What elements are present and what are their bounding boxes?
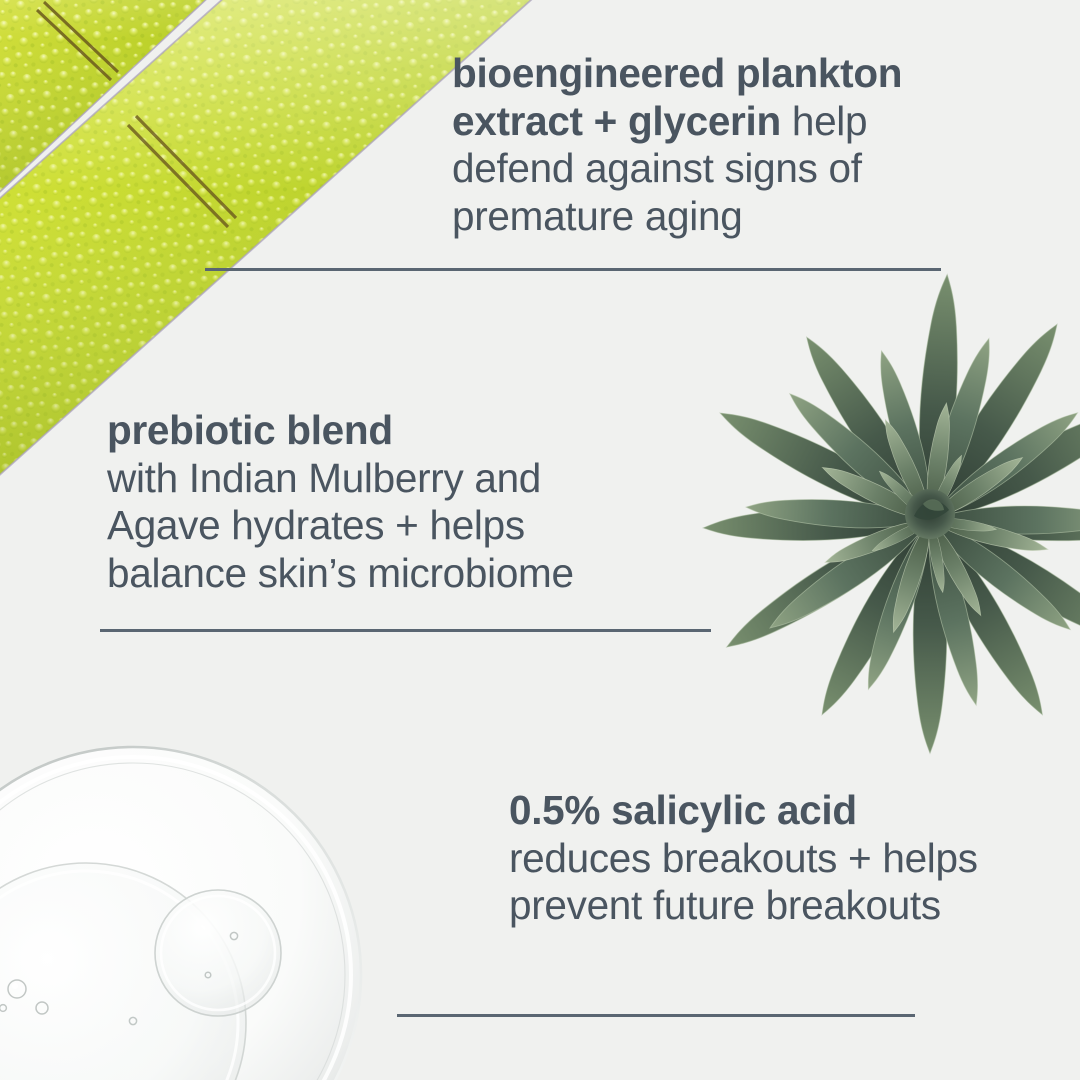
divider-rule-3 [397, 1014, 915, 1017]
benefit-salicylic: 0.5% salicylic acidreduces breakouts + h… [509, 787, 979, 930]
agave-plant-photo [640, 265, 1080, 805]
benefit-salicylic-text: 0.5% salicylic acidreduces breakouts + h… [509, 787, 979, 930]
benefit-prebiotic-ingredient: prebiotic blend [107, 407, 393, 453]
infographic-canvas: bioengineered plankton extract + glyceri… [0, 0, 1080, 1080]
benefit-salicylic-benefit: reduces breakouts + helps prevent future… [509, 835, 978, 929]
benefit-prebiotic: prebiotic blendwith Indian Mulberry and … [107, 407, 637, 597]
benefit-plankton-text: bioengineered plankton extract + glyceri… [452, 50, 972, 240]
benefit-salicylic-ingredient: 0.5% salicylic acid [509, 787, 857, 833]
benefit-prebiotic-benefit: with Indian Mulberry and Agave hydrates … [107, 455, 574, 596]
divider-rule-1 [205, 268, 941, 271]
benefit-prebiotic-text: prebiotic blendwith Indian Mulberry and … [107, 407, 637, 597]
gel-droplet-photo [0, 720, 390, 1080]
divider-rule-2 [100, 629, 711, 632]
benefit-plankton: bioengineered plankton extract + glyceri… [452, 50, 972, 240]
